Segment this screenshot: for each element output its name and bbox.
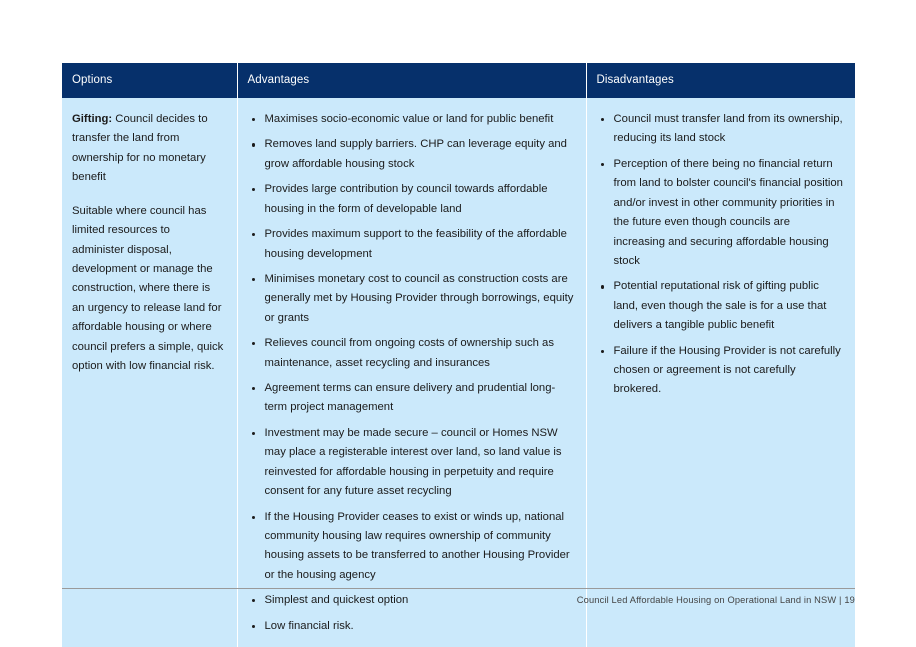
document-page: Options Advantages Disadvantages Gifting… [0, 0, 916, 647]
advantages-list: Maximises socio-economic value or land f… [248, 110, 574, 636]
cell-disadvantages: Council must transfer land from its owne… [586, 98, 855, 647]
list-item: Potential reputational risk of gifting p… [612, 277, 844, 335]
cell-options-gifting: Gifting: Council decides to transfer the… [62, 98, 237, 647]
footer-divider [62, 588, 855, 589]
column-header-advantages: Advantages [237, 63, 586, 98]
list-item: Simplest and quickest option [263, 591, 574, 610]
list-item: Provides maximum support to the feasibil… [263, 225, 574, 264]
options-paragraph-2: Suitable where council has limited resou… [72, 202, 225, 377]
disadvantages-list: Council must transfer land from its owne… [597, 110, 844, 400]
list-item: Investment may be made secure – council … [263, 424, 574, 502]
list-item: Maximises socio-economic value or land f… [263, 110, 574, 129]
list-item: If the Housing Provider ceases to exist … [263, 508, 574, 586]
list-item: Council must transfer land from its owne… [612, 110, 844, 149]
list-item: Relieves council from ongoing costs of o… [263, 334, 574, 373]
table-row: Gifting: Council decides to transfer the… [62, 98, 855, 647]
footer-caption: Council Led Affordable Housing on Operat… [577, 595, 855, 605]
list-item: Provides large contribution by council t… [263, 180, 574, 219]
list-item: Agreement terms can ensure delivery and … [263, 379, 574, 418]
list-item: Failure if the Housing Provider is not c… [612, 342, 844, 400]
options-paragraph-1: Gifting: Council decides to transfer the… [72, 110, 225, 188]
list-item: Removes land supply barriers. CHP can le… [263, 135, 574, 174]
list-item: Perception of there being no financial r… [612, 155, 844, 272]
table-header-row: Options Advantages Disadvantages [62, 63, 855, 98]
list-item: Low financial risk. [263, 617, 574, 636]
cell-advantages: Maximises socio-economic value or land f… [237, 98, 586, 647]
column-header-options: Options [62, 63, 237, 98]
column-header-disadvantages: Disadvantages [586, 63, 855, 98]
options-lead-term: Gifting: [72, 113, 112, 125]
options-comparison-table: Options Advantages Disadvantages Gifting… [62, 63, 855, 647]
list-item: Minimises monetary cost to council as co… [263, 270, 574, 328]
